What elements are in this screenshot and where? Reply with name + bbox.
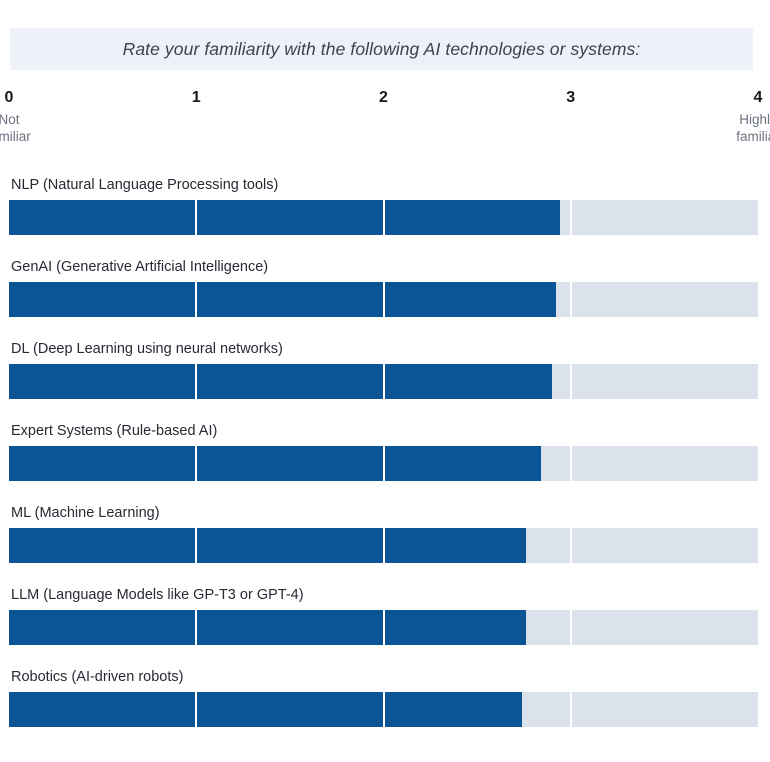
axis-tick-value: 3 — [516, 88, 626, 108]
bar-fill — [9, 364, 552, 399]
bar-fill — [9, 692, 522, 727]
axis-tick-inner: 4Highlyfamiliar — [703, 88, 770, 145]
axis-tick-0: 0Notfamiliar — [9, 88, 119, 145]
bar-fill — [9, 528, 526, 563]
bar-segment-divider — [570, 528, 572, 563]
axis-tick-inner: 2 — [329, 88, 439, 108]
bar-row-label: LLM (Language Models like GP-T3 or GPT-4… — [11, 586, 304, 604]
bar-track — [9, 364, 758, 399]
bar-segment-divider — [570, 610, 572, 645]
bar-row: Expert Systems (Rule-based AI) — [0, 422, 770, 504]
bar-segment-divider — [195, 446, 197, 481]
axis-tick-1: 1 — [196, 88, 306, 108]
bar-track — [9, 692, 758, 727]
bar-row: GenAI (Generative Artificial Intelligenc… — [0, 258, 770, 340]
axis-tick-2: 2 — [384, 88, 494, 108]
bar-segment-divider — [383, 200, 385, 235]
axis-tick-value: 0 — [0, 88, 64, 108]
axis-tick-value: 4 — [703, 88, 770, 108]
bar-track — [9, 528, 758, 563]
bar-segment-divider — [570, 692, 572, 727]
bar-row-label: Robotics (AI-driven robots) — [11, 668, 183, 686]
axis-tick-sublabel-line1: Not — [0, 111, 64, 128]
axis-tick-inner: 0Notfamiliar — [0, 88, 64, 145]
bar-row: LLM (Language Models like GP-T3 or GPT-4… — [0, 586, 770, 668]
bar-segment-divider — [383, 282, 385, 317]
survey-question-banner: Rate your familiarity with the following… — [10, 28, 753, 70]
bar-segment-divider — [195, 528, 197, 563]
bar-fill — [9, 282, 556, 317]
bar-segment-divider — [383, 528, 385, 563]
bar-segment-divider — [570, 282, 572, 317]
bar-fill — [9, 200, 560, 235]
bar-row: Robotics (AI-driven robots) — [0, 668, 770, 750]
bar-track — [9, 610, 758, 645]
bar-fill — [9, 446, 541, 481]
bar-rows: NLP (Natural Language Processing tools)G… — [0, 176, 770, 750]
bar-row: DL (Deep Learning using neural networks) — [0, 340, 770, 422]
bar-row: ML (Machine Learning) — [0, 504, 770, 586]
bar-segment-divider — [195, 692, 197, 727]
bar-row-label: ML (Machine Learning) — [11, 504, 160, 522]
bar-segment-divider — [570, 364, 572, 399]
bar-row-label: DL (Deep Learning using neural networks) — [11, 340, 283, 358]
bar-segment-divider — [195, 610, 197, 645]
axis-tick-value: 1 — [141, 88, 251, 108]
axis-tick-sublabel-line2: familiar — [0, 128, 64, 145]
axis-tick-4: 4Highlyfamiliar — [758, 88, 770, 145]
axis-tick-3: 3 — [571, 88, 681, 108]
bar-segment-divider — [383, 610, 385, 645]
bar-row-label: GenAI (Generative Artificial Intelligenc… — [11, 258, 268, 276]
bar-row-label: NLP (Natural Language Processing tools) — [11, 176, 278, 194]
bar-track — [9, 282, 758, 317]
bar-segment-divider — [570, 446, 572, 481]
axis-tick-inner: 1 — [141, 88, 251, 108]
bar-segment-divider — [195, 364, 197, 399]
axis-tick-inner: 3 — [516, 88, 626, 108]
bar-fill — [9, 610, 526, 645]
bar-track — [9, 446, 758, 481]
bar-segment-divider — [383, 692, 385, 727]
bar-segment-divider — [570, 200, 572, 235]
scale-axis: 0Notfamiliar1234Highlyfamiliar — [0, 88, 770, 168]
axis-tick-sublabel-line2: familiar — [703, 128, 770, 145]
bar-segment-divider — [383, 364, 385, 399]
bar-segment-divider — [195, 282, 197, 317]
bar-segment-divider — [383, 446, 385, 481]
bar-track — [9, 200, 758, 235]
page-title: Rate your familiarity with the following… — [123, 39, 641, 60]
bar-row: NLP (Natural Language Processing tools) — [0, 176, 770, 258]
bar-segment-divider — [195, 200, 197, 235]
axis-tick-value: 2 — [329, 88, 439, 108]
axis-tick-sublabel-line1: Highly — [703, 111, 770, 128]
bar-row-label: Expert Systems (Rule-based AI) — [11, 422, 217, 440]
